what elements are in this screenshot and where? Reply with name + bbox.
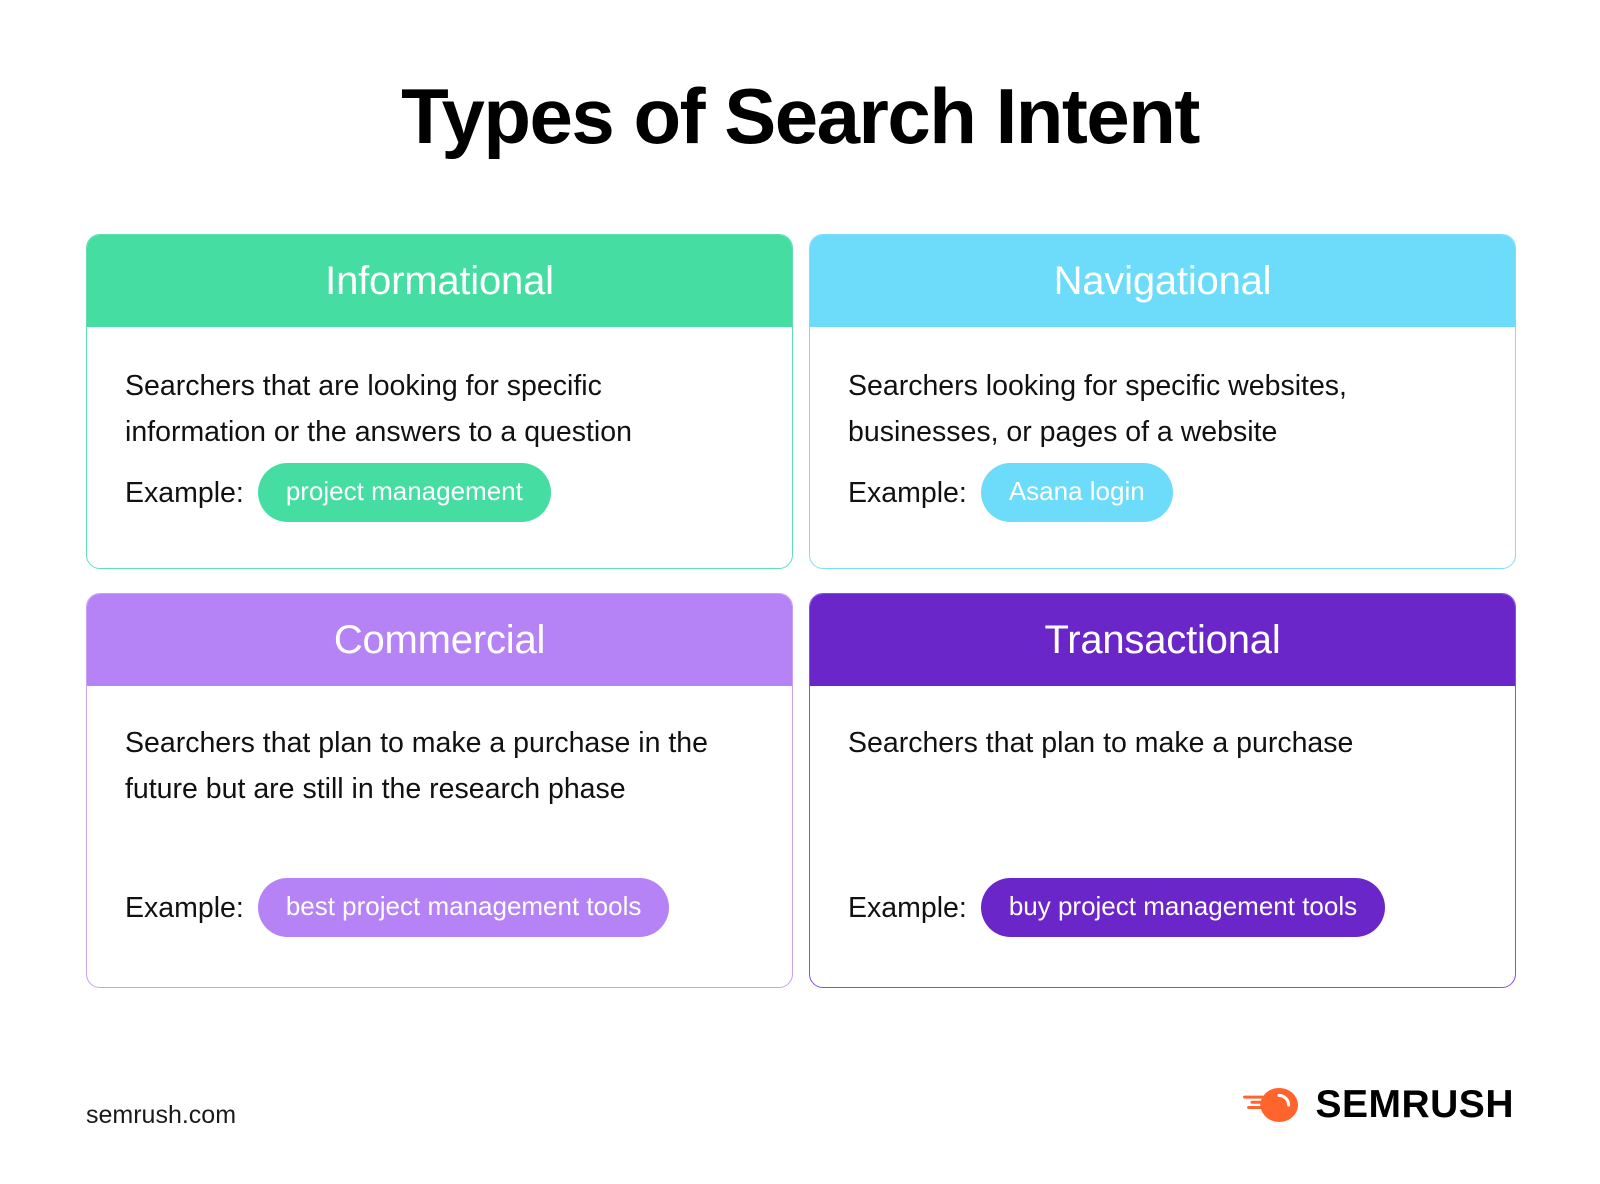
footer-url: semrush.com xyxy=(86,1100,236,1130)
example-row-commercial: Example: best project management tools xyxy=(125,878,754,937)
card-description: Searchers looking for specific websites,… xyxy=(848,363,1448,455)
semrush-logo: SEMRUSH xyxy=(1243,1082,1514,1128)
card-header-navigational: Navigational xyxy=(810,235,1515,327)
card-description: Searchers that plan to make a purchase i… xyxy=(125,720,725,812)
card-body-commercial: Searchers that plan to make a purchase i… xyxy=(87,686,792,987)
card-description: Searchers that plan to make a purchase xyxy=(848,720,1448,766)
card-header-transactional: Transactional xyxy=(810,594,1515,686)
example-pill-transactional[interactable]: buy project management tools xyxy=(981,878,1385,937)
example-row-informational: Example: project management xyxy=(125,463,754,522)
intent-cards-grid: Informational Searchers that are looking… xyxy=(86,234,1516,988)
example-row-navigational: Example: Asana login xyxy=(848,463,1477,522)
card-body-informational: Searchers that are looking for specific … xyxy=(87,327,792,568)
example-pill-navigational[interactable]: Asana login xyxy=(981,463,1173,522)
example-label: Example: xyxy=(125,476,244,510)
example-row-transactional: Example: buy project management tools xyxy=(848,878,1477,937)
intent-card-transactional: Transactional Searchers that plan to mak… xyxy=(809,593,1516,988)
footer: semrush.com SEMRUSH xyxy=(0,1064,1600,1184)
intent-card-navigational: Navigational Searchers looking for speci… xyxy=(809,234,1516,569)
card-header-informational: Informational xyxy=(87,235,792,327)
example-pill-informational[interactable]: project management xyxy=(258,463,551,522)
card-description: Searchers that are looking for specific … xyxy=(125,363,725,455)
card-body-navigational: Searchers looking for specific websites,… xyxy=(810,327,1515,568)
intent-card-commercial: Commercial Searchers that plan to make a… xyxy=(86,593,793,988)
card-header-commercial: Commercial xyxy=(87,594,792,686)
intent-card-informational: Informational Searchers that are looking… xyxy=(86,234,793,569)
infographic-page: Types of Search Intent Informational Sea… xyxy=(0,0,1600,1184)
semrush-wordmark: SEMRUSH xyxy=(1315,1084,1514,1126)
example-label: Example: xyxy=(848,891,967,925)
card-body-transactional: Searchers that plan to make a purchase E… xyxy=(810,686,1515,987)
example-label: Example: xyxy=(848,476,967,510)
example-pill-commercial[interactable]: best project management tools xyxy=(258,878,670,937)
page-title: Types of Search Intent xyxy=(0,68,1600,164)
semrush-comet-icon xyxy=(1243,1082,1301,1128)
example-label: Example: xyxy=(125,891,244,925)
